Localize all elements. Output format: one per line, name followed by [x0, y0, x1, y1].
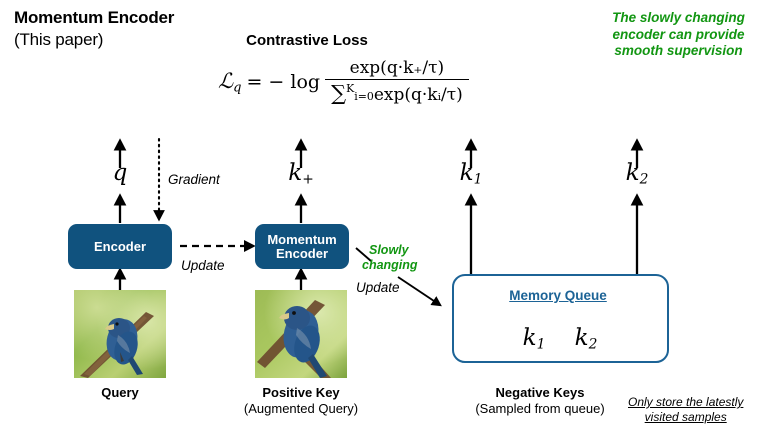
page-subtitle: (This paper) — [14, 30, 103, 50]
green-annotation-line1: The slowly changing — [586, 10, 771, 27]
memory-queue-item-k2: k2 — [575, 325, 598, 352]
contrastive-loss-heading: Contrastive Loss — [246, 32, 368, 49]
formula-fraction: exp(q·k₊/τ) ∑Ki=0exp(q·kᵢ/τ) — [325, 60, 469, 105]
side-note-line2: visited samples — [628, 410, 743, 425]
diagram-canvas: Momentum Encoder (This paper) Contrastiv… — [0, 0, 775, 435]
memory-queue-item-k1: k1 — [523, 325, 546, 352]
caption-positive-key-bold: Positive Key — [244, 385, 358, 401]
encoder-label: Encoder — [94, 240, 146, 254]
label-update-encoder: Update — [181, 258, 225, 273]
label-slowly-changing-line1: Slowly — [369, 243, 409, 257]
label-update-queue: Update — [356, 280, 400, 295]
side-note-line1: Only store the latestly — [628, 395, 743, 410]
query-image — [74, 290, 166, 378]
formula-sigma: ∑Ki=0 — [331, 81, 374, 105]
caption-query: Query — [101, 385, 139, 401]
positive-key-image-art — [255, 290, 347, 378]
encoder-box[interactable]: Encoder — [68, 224, 172, 269]
memory-queue-title: Memory Queue — [509, 288, 607, 303]
label-gradient: Gradient — [168, 172, 220, 187]
caption-positive-key: Positive Key (Augmented Query) — [244, 385, 358, 417]
caption-negative-keys-normal: (Sampled from queue) — [475, 401, 604, 417]
green-annotation-line2: encoder can provide — [586, 27, 771, 44]
symbol-k-plus: k+ — [288, 160, 314, 187]
formula-denominator: ∑Ki=0exp(q·kᵢ/τ) — [325, 79, 469, 105]
symbol-q: q — [113, 160, 128, 186]
momentum-encoder-box[interactable]: Momentum Encoder — [255, 224, 349, 269]
momentum-encoder-label-line2: Encoder — [276, 247, 328, 261]
green-annotation: The slowly changing encoder can provide … — [586, 10, 771, 60]
caption-positive-key-normal: (Augmented Query) — [244, 401, 358, 417]
page-title: Momentum Encoder — [14, 8, 174, 28]
caption-negative-keys: Negative Keys (Sampled from queue) — [475, 385, 604, 417]
symbol-k1: k1 — [460, 160, 483, 187]
symbol-k2: k2 — [626, 160, 649, 187]
formula-numerator: exp(q·k₊/τ) — [344, 60, 451, 79]
formula-equals: = − log — [246, 71, 320, 93]
label-slowly-changing-line2: changing — [362, 258, 418, 272]
caption-negative-keys-bold: Negative Keys — [475, 385, 604, 401]
side-note-store: Only store the latestly visited samples — [628, 395, 743, 425]
green-annotation-line3: smooth supervision — [586, 43, 771, 60]
momentum-encoder-label-line1: Momentum — [267, 233, 336, 247]
positive-key-image — [255, 290, 347, 378]
arrow-slowly-changing-seg2 — [398, 277, 440, 305]
contrastive-loss-formula: ℒq = − log exp(q·k₊/τ) ∑Ki=0exp(q·kᵢ/τ) — [218, 60, 469, 105]
query-image-art — [74, 290, 166, 378]
formula-lhs: ℒq — [218, 69, 241, 96]
caption-query-bold: Query — [101, 385, 139, 401]
